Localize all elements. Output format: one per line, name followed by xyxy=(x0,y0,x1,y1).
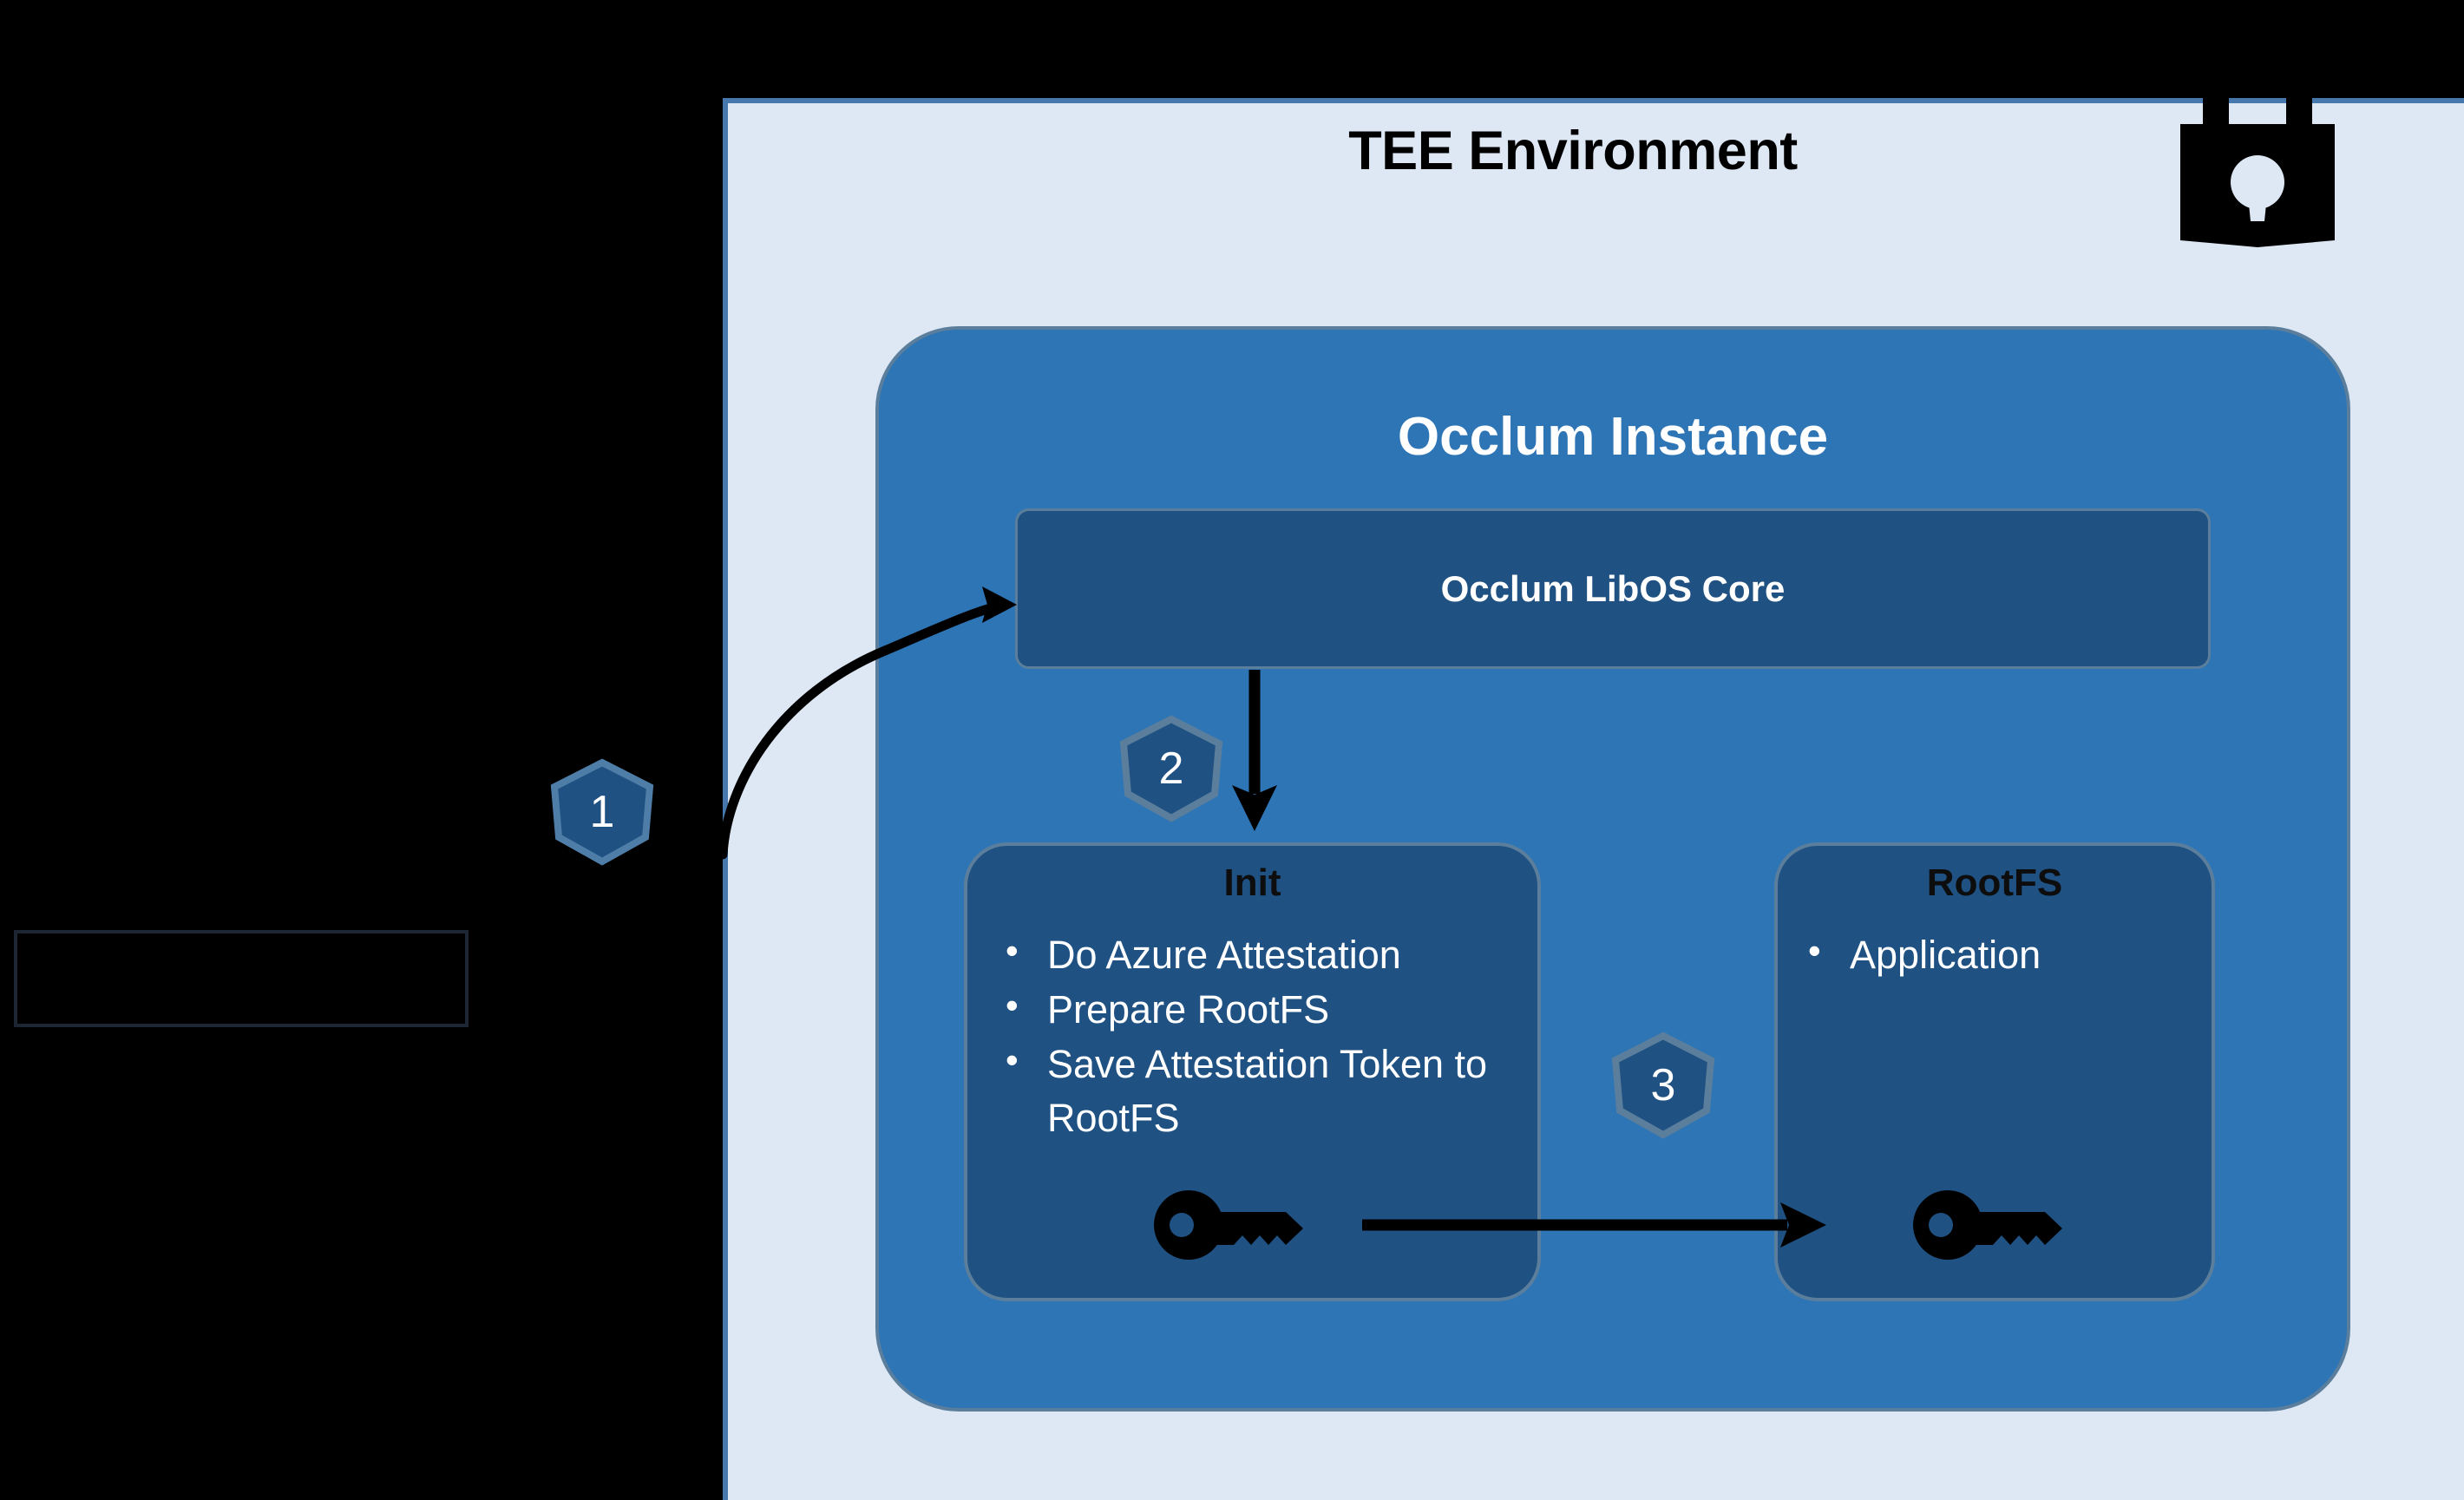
rootfs-box-title: RootFS xyxy=(1774,861,2215,905)
step-badge-2-number: 2 xyxy=(1117,717,1225,820)
step-badge-3: 3 xyxy=(1609,1034,1717,1136)
empty-outline-rectangle xyxy=(14,930,469,1027)
occlum-instance-title: Occlum Instance xyxy=(875,408,2350,467)
key-icon xyxy=(1154,1189,1310,1262)
list-item: Save Attestation Token to RootFS xyxy=(993,1038,1514,1143)
step-badge-1: 1 xyxy=(548,761,656,863)
diagram-canvas: TEE Environment Occlum Instance Occlum L… xyxy=(0,0,2464,1500)
key-icon xyxy=(1913,1189,2069,1262)
list-item: Application xyxy=(1796,928,2204,981)
list-item: Prepare RootFS xyxy=(993,983,1514,1036)
padlock-icon xyxy=(2166,48,2349,247)
step-badge-1-number: 1 xyxy=(548,761,656,863)
occlum-libos-core-label: Occlum LibOS Core xyxy=(1441,568,1786,610)
list-item: Do Azure Attestation xyxy=(993,928,1514,981)
occlum-libos-core-box: Occlum LibOS Core xyxy=(1015,508,2211,669)
rootfs-bullet-list: Application xyxy=(1796,928,2204,981)
step-badge-2: 2 xyxy=(1117,717,1225,820)
init-bullet-list: Do Azure Attestation Prepare RootFS Save… xyxy=(993,928,1514,1146)
init-box-title: Init xyxy=(964,861,1541,905)
step-badge-3-number: 3 xyxy=(1609,1034,1717,1136)
